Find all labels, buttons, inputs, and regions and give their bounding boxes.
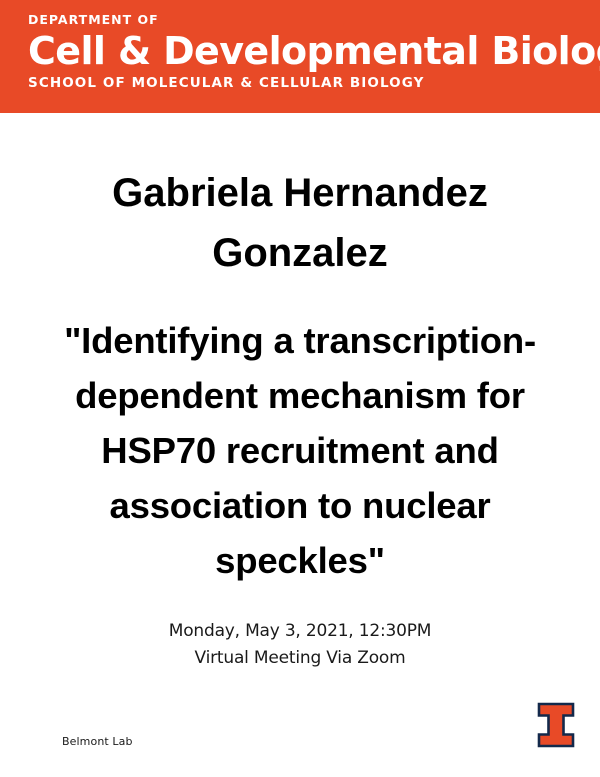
banner-school-text: SCHOOL OF MOLECULAR & CELLULAR BIOLOGY — [28, 75, 600, 92]
talk-title: "Identifying a transcription-dependent m… — [28, 313, 572, 588]
seminar-poster: DEPARTMENT OF Cell & Developmental Biolo… — [0, 0, 600, 777]
seminar-details: Monday, May 3, 2021, 12:30PM Virtual Mee… — [50, 618, 550, 672]
department-banner: DEPARTMENT OF Cell & Developmental Biolo… — [0, 0, 600, 113]
seminar-datetime: Monday, May 3, 2021, 12:30PM — [50, 618, 550, 645]
speaker-name: Gabriela Hernandez Gonzalez — [50, 163, 550, 283]
seminar-venue: Virtual Meeting Via Zoom — [50, 645, 550, 672]
banner-department-title: Cell & Developmental Biology — [28, 29, 600, 73]
lab-credit: Belmont Lab — [62, 735, 133, 749]
banner-eyebrow-text: DEPARTMENT OF — [28, 12, 600, 27]
illinois-block-i-logo — [536, 702, 576, 748]
